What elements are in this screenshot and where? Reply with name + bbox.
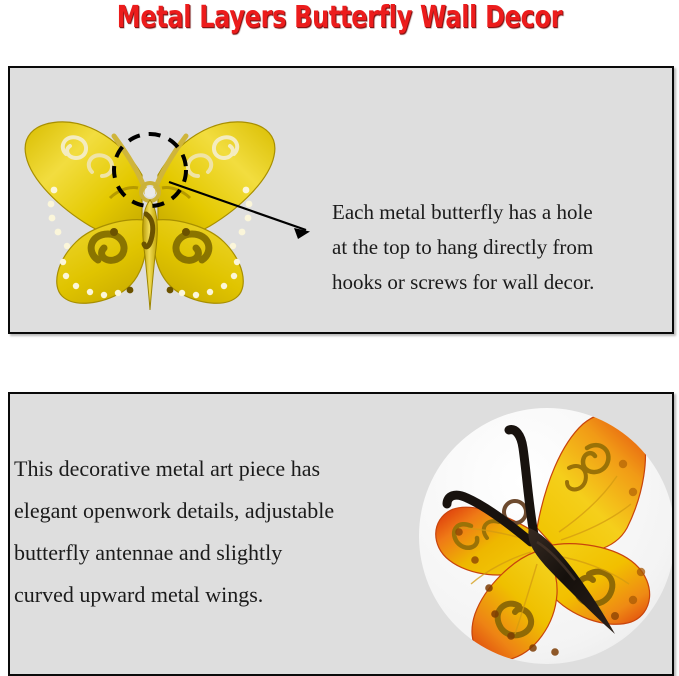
hanging-hole-line-2: at the top to hang directly from (332, 230, 652, 265)
design-details-line-2: elegant openwork details, adjustable (14, 490, 426, 532)
hanging-hole-line-3: hooks or screws for wall decor. (332, 265, 652, 300)
hanging-hole-description: Each metal butterfly has a hole at the t… (332, 195, 652, 300)
design-details-line-1: This decorative metal art piece has (14, 448, 426, 490)
callout-arrow-head (294, 228, 310, 239)
orange-butterfly-image (419, 400, 674, 672)
design-details-description: This decorative metal art piece has eleg… (14, 448, 426, 616)
page-title: Metal Layers Butterfly Wall Decor (68, 2, 611, 34)
design-details-line-4: curved upward metal wings. (14, 574, 426, 616)
hanging-hole-line-1: Each metal butterfly has a hole (332, 195, 652, 230)
design-details-panel: This decorative metal art piece has eleg… (8, 392, 674, 676)
yellow-butterfly-image (18, 80, 282, 320)
design-details-line-3: butterfly antennae and slightly (14, 532, 426, 574)
hanging-hole-panel: Each metal butterfly has a hole at the t… (8, 66, 674, 334)
